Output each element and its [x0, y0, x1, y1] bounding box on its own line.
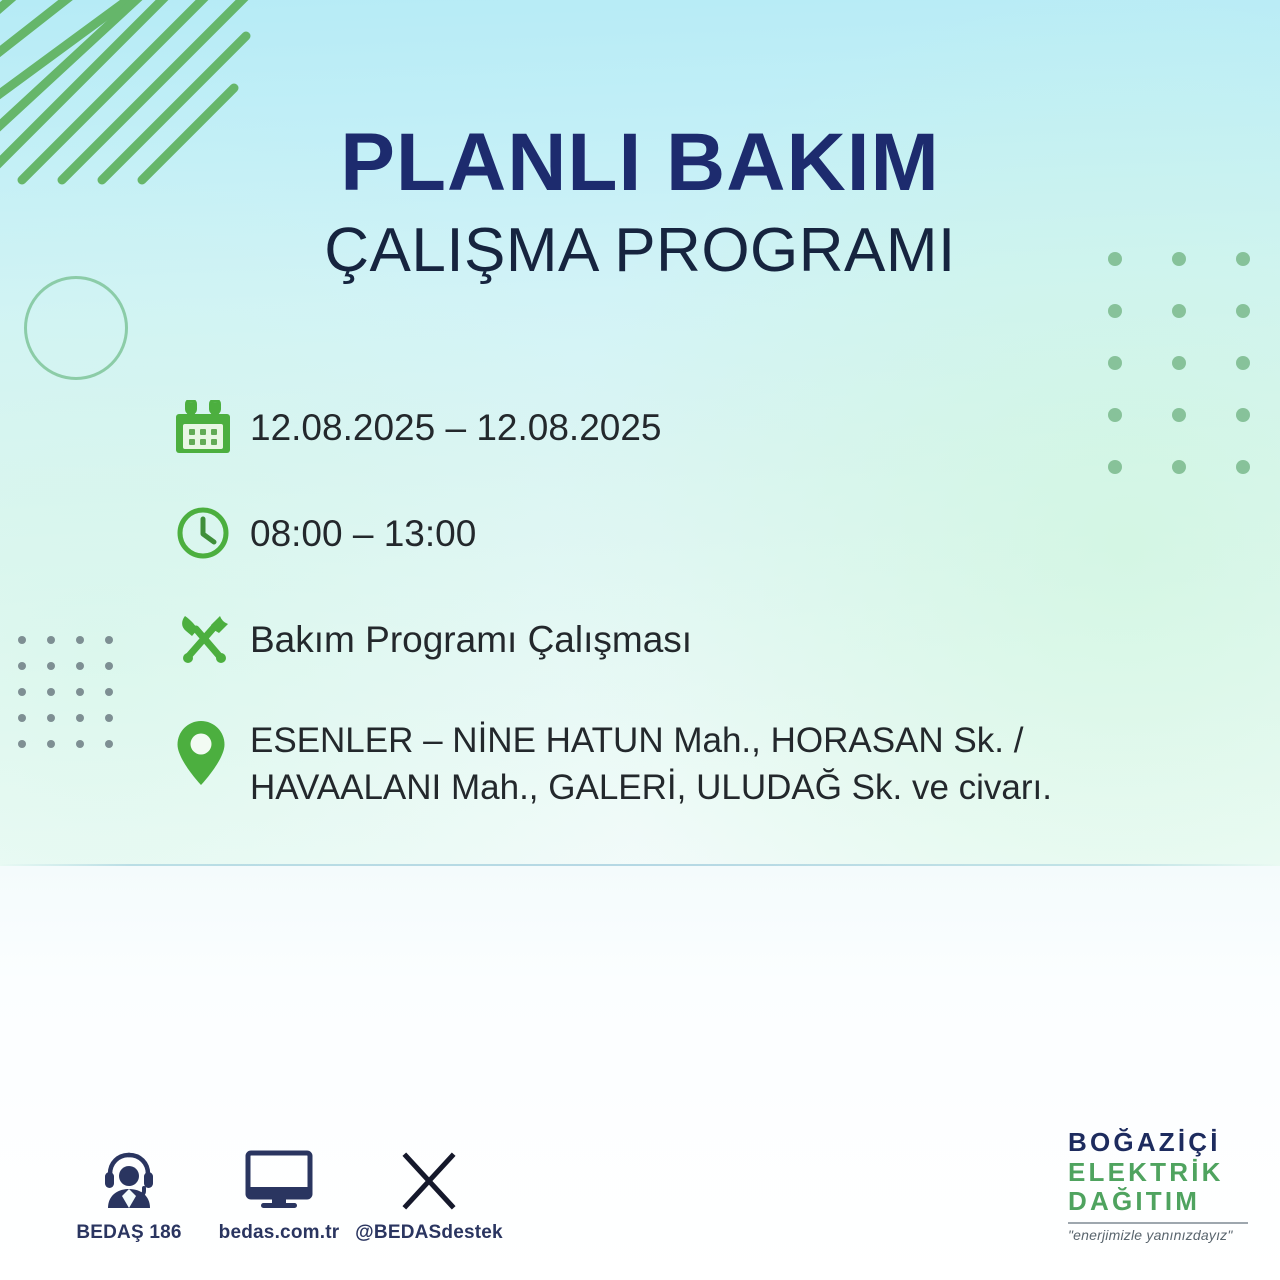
location-text: ESENLER – NİNE HATUN Mah., HORASAN Sk. /…	[250, 716, 1216, 812]
contact-website[interactable]: bedas.com.tr	[204, 1148, 354, 1244]
contact-social[interactable]: @BEDASdestek	[354, 1148, 504, 1244]
contact-social-label: @BEDASdestek	[354, 1222, 504, 1244]
planned-maintenance-poster: PLANLI BAKIM ÇALIŞMA PROGRAMI	[0, 0, 1280, 1280]
dot-grid-decoration-left	[18, 636, 134, 766]
maintenance-details-list: 12.08.2025 – 12.08.2025 08:00 – 13:00	[176, 398, 1216, 812]
brand-line-3: DAĞITIM	[1068, 1187, 1258, 1217]
detail-row-time: 08:00 – 13:00	[176, 504, 1216, 582]
work-type-text: Bakım Programı Çalışması	[250, 610, 1216, 664]
brand-line-2: ELEKTRİK	[1068, 1158, 1258, 1188]
detail-row-location: ESENLER – NİNE HATUN Mah., HORASAN Sk. /…	[176, 716, 1216, 812]
headset-agent-icon	[54, 1148, 204, 1210]
clock-icon	[176, 504, 250, 582]
page-subtitle: ÇALIŞMA PROGRAMI	[0, 220, 1280, 282]
contact-call-center-label: BEDAŞ 186	[54, 1222, 204, 1244]
contact-website-label: bedas.com.tr	[204, 1222, 354, 1244]
tools-icon	[176, 610, 250, 688]
location-line-2: HAVAALANI Mah., GALERİ, ULUDAĞ Sk. ve ci…	[250, 768, 1052, 807]
poster-header: PLANLI BAKIM ÇALIŞMA PROGRAMI	[0, 122, 1280, 282]
brand-line-1: BOĞAZİÇİ	[1068, 1128, 1258, 1158]
detail-row-work-type: Bakım Programı Çalışması	[176, 610, 1216, 688]
location-line-1: ESENLER – NİNE HATUN Mah., HORASAN Sk. /	[250, 721, 1023, 760]
contact-call-center[interactable]: BEDAŞ 186	[54, 1148, 204, 1244]
circle-outline-decoration	[24, 276, 128, 380]
map-pin-icon	[176, 716, 250, 796]
bedas-logo: BOĞAZİÇİ ELEKTRİK DAĞITIM "enerjimizle y…	[1068, 1128, 1258, 1243]
monitor-icon	[204, 1148, 354, 1210]
time-range-text: 08:00 – 13:00	[250, 504, 1216, 558]
page-title: PLANLI BAKIM	[0, 122, 1280, 204]
date-range-text: 12.08.2025 – 12.08.2025	[250, 398, 1216, 452]
detail-row-date: 12.08.2025 – 12.08.2025	[176, 398, 1216, 476]
section-divider	[0, 864, 1280, 866]
x-logo-icon	[354, 1148, 504, 1210]
brand-tagline: "enerjimizle yanınızdayız"	[1068, 1227, 1258, 1243]
footer-contact-bar: BEDAŞ 186 bedas.com.tr @BEDASdestek	[54, 1148, 504, 1244]
calendar-icon	[176, 398, 250, 476]
brand-divider	[1068, 1222, 1248, 1224]
